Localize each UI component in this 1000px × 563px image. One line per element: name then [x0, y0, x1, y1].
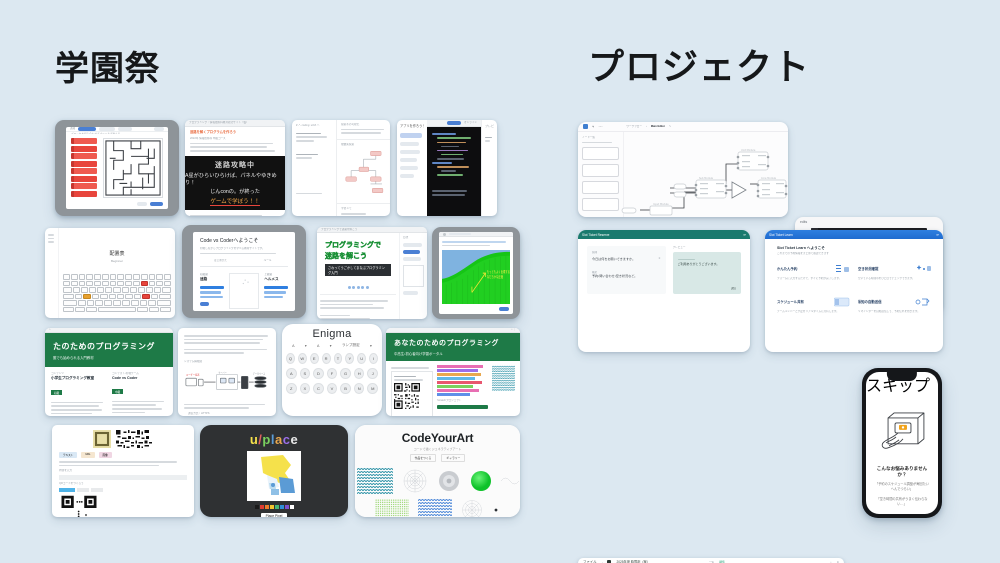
portal-hero-title: あなたのためのプログラミング: [394, 338, 512, 348]
cya-button-0[interactable]: 作品をつくる: [410, 454, 437, 462]
svg-text:サーバー: サーバー: [218, 370, 226, 374]
enigma-key[interactable]: A: [286, 368, 297, 379]
logo-icon: [583, 124, 588, 129]
art-green-dot-grid[interactable]: [375, 499, 409, 517]
onboarding-bullet-0: 「予約のスケジュール調整が毎回たいへんでつらい」: [874, 482, 930, 493]
art-thin-wave[interactable]: [501, 475, 519, 487]
place-pixel-button[interactable]: Place Pixel: [261, 513, 288, 517]
enigma-key[interactable]: S: [300, 368, 311, 379]
article-video-thumbnail[interactable]: 迷路攻略中 A星がひらいひらけば、パネルやゆきめり！ じんconの。が終った ゲ…: [185, 156, 285, 210]
landing-hero: たのためのプログラミング 誰でも始められる入門教材: [45, 333, 173, 367]
tree-diagram: [337, 147, 390, 203]
code-preview-label: プレビュー: [485, 124, 494, 129]
landing-card-1[interactable]: コンテスト・対戦ゲーム Code vs Coder 中級: [112, 372, 167, 416]
reservation-window-title: Slot Ticket Reserve: [582, 233, 609, 237]
sidebar-node[interactable]: [582, 164, 619, 177]
svg-text:Sub Module: Sub Module: [699, 177, 714, 180]
architecture-diagram: ユーザー端末 サーバー データベース: [184, 366, 270, 400]
art-single-dot[interactable]: [492, 506, 500, 514]
palette-swatch[interactable]: [285, 505, 289, 509]
enigma-key[interactable]: U: [357, 353, 366, 364]
cvc-col-0[interactable]: 初級編 迷路: [200, 273, 224, 309]
section-title-left: 学園祭: [55, 52, 160, 86]
qr-heading: QRコードをつくろう: [59, 482, 187, 486]
cvc-col-1[interactable]: 上級編 ヘルメス: [264, 273, 288, 309]
thumb-mobile-onboarding[interactable]: スキップ こんなお悩みありませんか？ 「予約のス: [862, 368, 942, 518]
learn-titlebar: Slot Ticket Learn ⟳: [765, 230, 943, 239]
learn-heading: Slot Ticket Learn へようこそ: [777, 246, 931, 251]
node-editor-toolbar[interactable]: ⑂ ⋯ ワークフロー › Main Editor ✎: [578, 122, 788, 132]
enigma-title: Enigma: [282, 324, 382, 340]
enigma-key[interactable]: B: [340, 383, 351, 394]
qr-chip[interactable]: [77, 488, 89, 492]
cvc-tab-0[interactable]: はじめかた: [200, 259, 241, 263]
keyboard-heading: 配置表: [59, 250, 175, 257]
enigma-key[interactable]: C: [313, 383, 324, 394]
branch-icon[interactable]: ⑂: [592, 124, 594, 129]
tree-pane-title: 探索木の可視化: [341, 123, 386, 127]
enigma-key[interactable]: G: [340, 368, 351, 379]
portal-hero: あなたのためのプログラミング 中高生・初心者向け学習ポータル: [386, 333, 520, 361]
cya-title: CodeYourArt: [402, 431, 474, 445]
code-tabbar[interactable]: オンライン: [427, 120, 481, 127]
keyboard-diagram[interactable]: [59, 271, 175, 315]
thumb-qr-code-generator[interactable]: テキスト URL 画像 内容を入力 QRコードをつくろう 読み取りテストをしてか: [52, 425, 194, 517]
banner-line-1: プログラミングで: [325, 240, 391, 250]
code-panel-title: アプリを作ろう！: [400, 124, 424, 129]
thumb-your-programming-portal[interactable]: ⌕ ⋮ あなたのためのプログラミング 中高生・初心者向け学習ポータル: [386, 328, 520, 416]
thumb-maze-blockly-tablet[interactable]: 迷路 ブロックを組み合わせてゴールまで進もう: [55, 120, 179, 216]
send-icon: [915, 297, 931, 307]
enigma-rotor-2[interactable]: ランプ設定: [342, 343, 360, 348]
enigma-key[interactable]: F: [327, 368, 338, 379]
chevron-down-icon-0[interactable]: ▾: [305, 344, 307, 348]
learn-feature-0[interactable]: かんたん予約 フォームに入力するだけで、すぐに予約が完了します。: [777, 264, 850, 281]
calendar-icon: [834, 297, 850, 307]
svg-text:ユーザー端末: ユーザー端末: [186, 372, 200, 376]
qr-badge-gold: [93, 430, 111, 448]
thumb-timetable-scheduler[interactable]: ファイル › 2025年度 時間割（案） 一覧 編集 ⌕ ⚙ 時間割 残り 25…: [578, 558, 844, 563]
cvc-intro: 対戦しながらプログラミングを学べる教材サイトです。: [200, 247, 288, 251]
learn-window-title: Slot Ticket Learn: [769, 233, 793, 237]
maze-run-button[interactable]: [150, 202, 163, 206]
color-palette[interactable]: [255, 505, 294, 509]
reservation-field-label: 質問: [592, 251, 661, 255]
video-line-1: A星がひらいひらけば、パネルやゆきめり！: [185, 172, 285, 186]
learn-feature-1-desc: 空いている時間帯をひと目でチェックできます。: [858, 277, 931, 281]
art-grey-spiral[interactable]: [437, 469, 461, 493]
thumb-programming-for-you-landing[interactable]: ⌂ たのためのプログラミング 誰でも始められる入門教材 コンテンツ 小学生プログ…: [45, 328, 173, 416]
art-thin-spiral[interactable]: [461, 499, 483, 517]
maze-app-title: 迷路: [70, 127, 75, 131]
palette-swatch[interactable]: [255, 505, 259, 509]
svg-text:Unit Module: Unit Module: [741, 149, 756, 152]
chevron-down-icon-1[interactable]: ▾: [330, 344, 332, 348]
thumb-system-architecture-doc[interactable]: システム構成図 ユーザー端末: [178, 328, 276, 416]
qr-tab-0[interactable]: テキスト: [59, 452, 77, 458]
enigma-key-row-0[interactable]: QWERTYUI: [282, 351, 382, 366]
enigma-key[interactable]: H: [354, 368, 365, 379]
qr-code-large: [59, 494, 113, 517]
article-byline: 2022年 情報技術科 中級コース: [190, 137, 280, 141]
art-blue-weave[interactable]: [418, 498, 452, 517]
cvc-heading: Code vs Coderへようこそ: [200, 237, 288, 244]
enigma-key[interactable]: V: [327, 383, 338, 394]
thumb-uplace-pixel-canvas[interactable]: u/place Place Pixel: [200, 425, 348, 517]
learn-feature-2-title: スケジュール共有: [777, 299, 804, 304]
onboarding-illustration: [874, 410, 930, 460]
palette-swatch[interactable]: [265, 505, 269, 509]
maze-canvas[interactable]: [103, 138, 163, 198]
lesson-sidebar-0[interactable]: 目次: [403, 236, 424, 240]
edit-icon[interactable]: ✎: [669, 125, 671, 129]
reservation-form[interactable]: 質問 今日は何をお願いできますか。 ✕ 補足 予約・問い合わせ・空き状況など。: [587, 246, 666, 294]
reservation-preview-action[interactable]: 送信: [731, 287, 736, 291]
svg-text:なだらかな丘陵: なだらかな丘陵: [487, 275, 503, 280]
sidebar-node[interactable]: [582, 181, 619, 194]
qr-code-strip: [114, 430, 154, 448]
enigma-key[interactable]: J: [367, 368, 378, 379]
svg-text:Core Module: Core Module: [761, 177, 777, 180]
more-icon[interactable]: ⋯: [598, 124, 602, 129]
qr-chip-active[interactable]: [59, 488, 75, 492]
enigma-key[interactable]: M: [367, 383, 378, 394]
art-green-orb[interactable]: [470, 470, 492, 492]
cya-subtitle: コードで描くジェネラティブアート: [414, 447, 462, 451]
video-line-2: じんconの。が終った: [210, 188, 260, 195]
thumb-maze-lesson-banner[interactable]: プログラミングで迷路を解こう プログラミングで 迷路を解こう さわってうごかして…: [317, 227, 427, 319]
sidebar-node[interactable]: [582, 147, 619, 160]
learn-feature-0-title: かんたん予約: [777, 266, 797, 271]
enigma-key[interactable]: D: [313, 368, 324, 379]
thumb-notebook-tree-diagram[interactable]: # -*- coding: utf-8 -*- 探索木の可視化 幅優先探索: [292, 120, 390, 216]
section-title-right: プロジェクト: [588, 50, 810, 86]
banner-line-2: 迷路を解こう: [325, 251, 391, 261]
reservation-preview-label: プレビュー: [673, 246, 742, 250]
qr-tab-2[interactable]: 画像: [99, 452, 112, 458]
code-badge: オンライン: [464, 121, 477, 125]
blockly-block-stack[interactable]: [71, 138, 97, 198]
enigma-key[interactable]: T: [334, 353, 343, 364]
thumb-enigma-keyboard-app[interactable]: Enigma A ▾ A ▾ ランプ設定 ▾ QWERTYUI ASDFGHJ …: [282, 324, 382, 416]
board-stage: 学園祭 プロジェクト 迷路 ブロックを組み合わせてゴールまで進もう: [0, 0, 1000, 563]
onboarding-headline: こんなお悩みありませんか？: [874, 466, 930, 478]
svg-text:Input Module: Input Module: [653, 203, 669, 206]
landing-hero-sub: 誰でも始められる入門教材: [53, 355, 165, 360]
reservation-preview: ご利用ありがとうございます。 送信: [673, 252, 742, 294]
reservation-sub-value[interactable]: 予約・問い合わせ・空き状況など。: [592, 274, 661, 279]
doc-heading: システム構成図: [184, 360, 270, 364]
terrain-action-button[interactable]: [499, 307, 509, 311]
video-app-label: edits: [795, 217, 943, 228]
node-sidebar[interactable]: ノード一覧: [578, 132, 624, 217]
qr-code: [394, 383, 420, 409]
site-nav[interactable]: プログラミング｜情報技術科教育研究サイト（仮）: [185, 120, 285, 127]
enigma-key[interactable]: I: [369, 353, 378, 364]
enigma-rotor-0[interactable]: A: [292, 344, 294, 348]
palette-swatch[interactable]: [275, 505, 279, 509]
learn-feature-0-desc: フォームに入力するだけで、すぐに予約が完了します。: [777, 277, 850, 281]
code-area[interactable]: [427, 127, 481, 216]
reservation-field-value[interactable]: 今日は何をお願いできますか。: [592, 257, 635, 262]
sparkle-icon: [917, 264, 931, 274]
cya-art-row-bottom: [375, 498, 500, 517]
art-line-spiral[interactable]: [402, 468, 428, 494]
cya-art-row-top: [357, 467, 519, 495]
landing-card-0[interactable]: コンテンツ 小学生プログラミング教室 初級: [51, 372, 106, 416]
learn-feature-1-title: 空き状況確認: [858, 266, 878, 271]
uplace-logo: u/place: [250, 432, 298, 447]
video-big-text: 迷路攻略中: [215, 160, 255, 170]
enigma-rotor-row[interactable]: A ▾ A ▾ ランプ設定 ▾: [282, 340, 382, 351]
landing-card-1-title: Code vs Coder: [112, 376, 167, 380]
key-highlight-red-2[interactable]: [142, 294, 149, 300]
thumb-slot-ticket-reservation-app[interactable]: Slot Ticket Reserve ⟳ 質問 今日は何をお願いできますか。 …: [578, 230, 750, 352]
portal-qr-col[interactable]: QRコードで開く: [391, 365, 433, 416]
learn-feature-1[interactable]: 空き状況確認 空いている時間帯をひと目でチェックできます。: [858, 264, 931, 281]
enigma-key[interactable]: N: [354, 383, 365, 394]
phone-notch: [887, 372, 917, 381]
cvc-col-0-title: 迷路: [200, 277, 224, 282]
breadcrumb-1[interactable]: Main Editor: [651, 125, 665, 129]
qr-chip[interactable]: [91, 488, 103, 492]
cya-button-1[interactable]: ギャラリー: [441, 454, 465, 462]
refresh-icon[interactable]: ⟳: [936, 233, 939, 237]
landing-card-1-badge: 中級: [112, 389, 123, 394]
banner-sub: さわってうごかしてまなぶプログラミング入門: [325, 264, 391, 276]
notebook-bottom-label: 学習メモ: [341, 207, 386, 211]
sidebar-node[interactable]: [582, 198, 619, 211]
site-nav-label: プログラミング｜情報技術科教育研究サイト（仮）: [189, 121, 249, 125]
article-headline: 迷路を解くプログラムを作ろう: [190, 130, 280, 135]
enigma-key[interactable]: Y: [345, 353, 354, 364]
enigma-rotor-1[interactable]: A: [317, 344, 319, 348]
keyboard-subheading: Beginner: [59, 259, 175, 263]
teal-weave-art: [492, 365, 515, 391]
enigma-key[interactable]: X: [300, 383, 311, 394]
list-icon: [836, 264, 850, 274]
qr-tab-1[interactable]: URL: [81, 452, 94, 458]
enigma-key-row-2[interactable]: ZXCVBNM: [282, 381, 382, 396]
pixel-canvas[interactable]: [247, 451, 301, 501]
thumb-codeyourart-gallery[interactable]: CodeYourArt コードで描くジェネラティブアート 作品をつくる ギャラリ…: [355, 425, 520, 517]
cvc-preview: [229, 273, 260, 309]
palette-swatch[interactable]: [270, 505, 274, 509]
learn-feature-3-desc: リマインダーを自動送信して、予約忘れを防ぎます。: [858, 310, 931, 314]
browser-tab-label: プログラミングで迷路を解こう: [321, 228, 357, 232]
landing-card-0-badge: 初級: [51, 390, 62, 395]
learn-feature-3[interactable]: 통知の自動送信 リマインダーを自動送信して、予約忘れを防ぎます。: [858, 297, 931, 314]
enigma-key[interactable]: W: [298, 353, 307, 364]
timetable-tab-1[interactable]: 編集: [719, 560, 725, 563]
timetable-topbar[interactable]: ファイル › 2025年度 時間割（案） 一覧 編集 ⌕ ⚙: [578, 558, 844, 563]
qr-field-label: 内容を入力: [59, 469, 187, 473]
svg-text:データベース: データベース: [253, 371, 265, 375]
video-cta: ゲームで学ぼう！！: [210, 197, 259, 206]
reservation-titlebar: Slot Ticket Reserve ⟳: [578, 230, 750, 239]
enigma-key[interactable]: R: [322, 353, 331, 364]
learn-feature-2[interactable]: スケジュール共有 チームメンバーと予定をリアルタイムに共有します。: [777, 297, 850, 314]
portal-hero-sub: 中高生・初心者向け学習ポータル: [394, 351, 512, 356]
breadcrumb-0[interactable]: ワークフロー: [626, 125, 642, 129]
key-highlight-amber[interactable]: [83, 294, 90, 300]
thumb-code-editor-dark[interactable]: アプリを作ろう！ オンライン: [397, 120, 497, 216]
cvc-tab-1[interactable]: ルール: [247, 259, 288, 263]
onboarding-bullet-1: 「空き時間の共有がうまく伝わらない…」: [874, 497, 930, 508]
landing-card-0-title: 小学生プログラミング教室: [51, 376, 106, 381]
terrain-canvas[interactable]: もっともよく出現する なだらかな丘陵: [442, 250, 510, 304]
clear-icon[interactable]: ✕: [658, 257, 660, 261]
reservation-preview-text: ご利用ありがとうございます。: [678, 262, 737, 267]
palette-swatch[interactable]: [280, 505, 284, 509]
node-sidebar-heading: ノード一覧: [582, 136, 619, 140]
thumb-green-terrain-viewer[interactable]: もっともよく出現する なだらかな丘陵: [432, 227, 520, 319]
learn-feature-2-desc: チームメンバーと予定をリアルタイムに共有します。: [777, 310, 850, 314]
thumb-node-graph-editor[interactable]: ⑂ ⋯ ワークフロー › Main Editor ✎ ノード一覧: [578, 122, 788, 217]
enigma-key[interactable]: Z: [286, 383, 297, 394]
cvc-col-1-title: ヘルメス: [264, 277, 288, 282]
chevron-down-icon-2[interactable]: ▾: [370, 344, 372, 348]
thumb-maze-article-page[interactable]: プログラミング｜情報技術科教育研究サイト（仮） 迷路を解くプログラムを作ろう 2…: [185, 120, 285, 216]
thumb-code-vs-coder-tablet[interactable]: Code vs Coderへようこそ 対戦しながらプログラミングを学べる教材サイ…: [182, 225, 306, 318]
enigma-key[interactable]: E: [310, 353, 319, 364]
enigma-key[interactable]: Q: [286, 353, 295, 364]
learn-subheading: これまでの予約情報をまとめて確認できます: [777, 252, 931, 256]
thumb-keyboard-typing-practice[interactable]: 配置表 Beginner: [45, 228, 175, 318]
landing-hero-title: たのためのプログラミング: [53, 341, 165, 352]
enigma-key-row-1[interactable]: ASDFGHJ: [282, 366, 382, 381]
portal-blocks-col[interactable]: Scratchプロジェクト: [437, 365, 488, 416]
notebook-left-title: # -*- coding: utf-8 -*-: [296, 124, 332, 128]
refresh-icon[interactable]: ⟳: [743, 233, 746, 237]
portal-blocks-label: Scratchプロジェクト: [437, 399, 488, 403]
key-highlight-red-1[interactable]: [141, 281, 148, 287]
thumb-slot-ticket-learn-app[interactable]: Slot Ticket Learn ⟳ Slot Ticket Learn へよ…: [765, 230, 943, 352]
palette-swatch[interactable]: [290, 505, 294, 509]
learn-feature-3-title: 통知の自動送信: [858, 299, 881, 304]
palette-swatch[interactable]: [260, 505, 264, 509]
qr-input[interactable]: [59, 475, 187, 480]
art-teal-weave[interactable]: [357, 467, 393, 495]
